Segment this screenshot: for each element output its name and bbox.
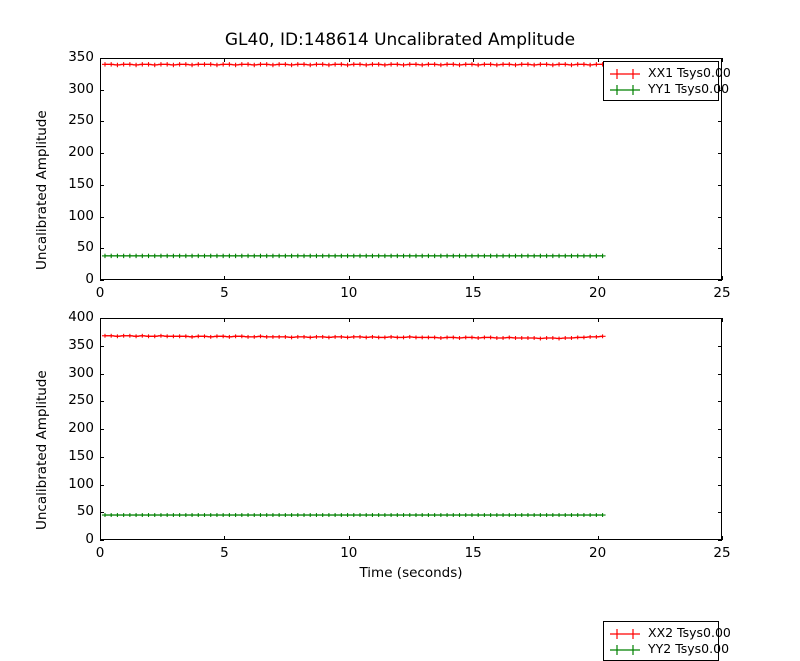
y-tick-mark [718, 374, 722, 375]
x-tick-label: 15 [448, 285, 498, 301]
y-tick-label: 100 [34, 476, 94, 492]
x-tick-mark [722, 318, 723, 322]
y-tick-mark [100, 401, 104, 402]
x-tick-label: 25 [697, 285, 747, 301]
x-tick-mark [473, 276, 474, 280]
x-tick-label: 20 [573, 285, 623, 301]
y-tick-label: 50 [34, 239, 94, 255]
x-tick-label: 5 [199, 285, 249, 301]
x-tick-mark [224, 58, 225, 62]
bottom-legend: XX2 Tsys0.00YY2 Tsys0.00 [603, 621, 719, 661]
y-tick-mark [718, 58, 722, 59]
y-tick-mark [718, 153, 722, 154]
y-tick-label: 100 [34, 208, 94, 224]
legend-entry: YY1 Tsys0.00 [608, 81, 714, 97]
y-tick-label: 50 [34, 503, 94, 519]
x-tick-mark [598, 58, 599, 62]
y-tick-label: 200 [34, 144, 94, 160]
y-tick-mark [100, 153, 104, 154]
y-tick-label: 150 [34, 448, 94, 464]
y-tick-mark [718, 185, 722, 186]
y-tick-label: 300 [34, 81, 94, 97]
x-tick-mark [224, 318, 225, 322]
x-tick-mark [349, 536, 350, 540]
y-tick-mark [100, 318, 104, 319]
data-series-xx [102, 62, 606, 67]
x-tick-mark [349, 318, 350, 322]
y-tick-mark [100, 512, 104, 513]
y-tick-label: 350 [34, 337, 94, 353]
y-tick-label: 300 [34, 365, 94, 381]
top-plot-panel: Uncalibrated Amplitude 05101520250501001… [0, 0, 800, 300]
y-tick-mark [718, 457, 722, 458]
x-tick-label: 15 [448, 545, 498, 561]
x-tick-mark [473, 536, 474, 540]
legend-marker-icon [608, 82, 642, 96]
y-tick-mark [100, 217, 104, 218]
y-tick-mark [718, 512, 722, 513]
y-tick-mark [718, 540, 722, 541]
x-tick-mark [349, 276, 350, 280]
x-tick-mark [598, 536, 599, 540]
y-tick-mark [100, 540, 104, 541]
x-tick-mark [224, 536, 225, 540]
y-tick-label: 150 [34, 176, 94, 192]
top-legend: XX1 Tsys0.00YY1 Tsys0.00 [603, 61, 719, 101]
legend-entry: XX2 Tsys0.00 [608, 625, 714, 641]
top-plot-data-layer [0, 0, 800, 300]
y-tick-mark [100, 185, 104, 186]
legend-label: XX1 Tsys0.00 [648, 66, 731, 80]
y-tick-mark [718, 280, 722, 281]
x-tick-mark [722, 536, 723, 540]
y-tick-mark [718, 217, 722, 218]
y-tick-mark [100, 485, 104, 486]
x-tick-mark [598, 318, 599, 322]
y-tick-mark [100, 429, 104, 430]
x-tick-label: 10 [324, 285, 374, 301]
data-series-yy [102, 254, 606, 258]
y-tick-label: 200 [34, 420, 94, 436]
y-tick-mark [718, 485, 722, 486]
y-tick-mark [718, 401, 722, 402]
y-tick-mark [718, 346, 722, 347]
legend-label: YY2 Tsys0.00 [648, 642, 729, 656]
x-tick-label: 0 [75, 545, 125, 561]
y-tick-mark [100, 121, 104, 122]
data-series-yy [102, 513, 606, 517]
y-tick-mark [718, 429, 722, 430]
y-tick-mark [100, 248, 104, 249]
x-tick-label: 5 [199, 545, 249, 561]
y-tick-mark [718, 248, 722, 249]
x-tick-label: 0 [75, 285, 125, 301]
data-series-xx [102, 334, 606, 341]
x-tick-mark [349, 58, 350, 62]
y-tick-label: 0 [34, 271, 94, 287]
y-tick-mark [100, 280, 104, 281]
y-tick-label: 400 [34, 309, 94, 325]
y-tick-label: 250 [34, 112, 94, 128]
legend-label: YY1 Tsys0.00 [648, 82, 729, 96]
legend-marker-icon [608, 626, 642, 640]
y-tick-mark [100, 374, 104, 375]
y-tick-label: 0 [34, 531, 94, 547]
y-tick-label: 350 [34, 49, 94, 65]
x-tick-mark [722, 276, 723, 280]
x-tick-mark [224, 276, 225, 280]
y-tick-mark [718, 121, 722, 122]
legend-entry: YY2 Tsys0.00 [608, 641, 714, 657]
legend-marker-icon [608, 66, 642, 80]
y-tick-mark [718, 318, 722, 319]
x-tick-label: 10 [324, 545, 374, 561]
y-tick-label: 250 [34, 392, 94, 408]
legend-marker-icon [608, 642, 642, 656]
y-tick-mark [100, 58, 104, 59]
x-tick-mark [722, 58, 723, 62]
legend-entry: XX1 Tsys0.00 [608, 65, 714, 81]
y-tick-mark [100, 90, 104, 91]
y-tick-mark [100, 457, 104, 458]
figure-canvas: GL40, ID:148614 Uncalibrated Amplitude U… [0, 0, 800, 600]
x-tick-label: 25 [697, 545, 747, 561]
x-tick-mark [473, 318, 474, 322]
legend-label: XX2 Tsys0.00 [648, 626, 731, 640]
y-tick-mark [100, 346, 104, 347]
x-tick-label: 20 [573, 545, 623, 561]
bottom-plot-panel: Uncalibrated Amplitude Time (seconds) 05… [0, 300, 800, 600]
x-tick-mark [473, 58, 474, 62]
x-tick-mark [598, 276, 599, 280]
